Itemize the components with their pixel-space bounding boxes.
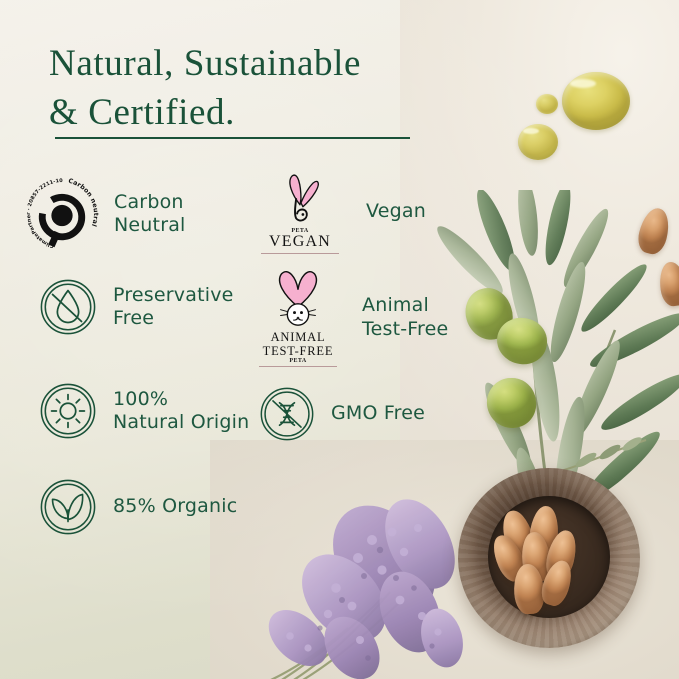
almond-icon bbox=[519, 531, 552, 584]
badge-natural-origin[interactable]: 100% Natural Origin bbox=[39, 382, 249, 440]
badge-carbon-neutral[interactable]: Carbon neutral ClimatePartner · 20857-22… bbox=[24, 176, 186, 252]
peta-animal-test-free-bunny-heart-icon: ANIMAL TEST-FREE PETA bbox=[256, 268, 340, 367]
almond-icon bbox=[657, 260, 679, 307]
green-olive-icon bbox=[485, 376, 539, 431]
badge-label: 85% Organic bbox=[113, 495, 237, 518]
badge-organic[interactable]: 85% Organic bbox=[39, 478, 237, 536]
almond-icon bbox=[487, 531, 530, 585]
olive-sprig-icon bbox=[560, 436, 650, 476]
dna-crossed-out-icon bbox=[259, 386, 315, 442]
olive-oil-droplet-small-icon bbox=[536, 94, 558, 114]
badge-label: Animal Test-Free bbox=[362, 294, 448, 340]
peta-small-text: PETA bbox=[256, 358, 340, 364]
carbon-neutral-seal-icon: Carbon neutral ClimatePartner · 20857-22… bbox=[24, 176, 100, 252]
mortar-rim-texture bbox=[458, 468, 640, 648]
almond-icon bbox=[527, 505, 560, 560]
bunny-ears-icon bbox=[271, 170, 329, 228]
green-olive-icon bbox=[459, 282, 519, 346]
water-drop-crossed-out-icon bbox=[39, 278, 97, 336]
almond-icon bbox=[512, 563, 545, 615]
sun-icon bbox=[39, 382, 97, 440]
peta-underline bbox=[259, 366, 337, 367]
peta-word-2: TEST-FREE bbox=[256, 344, 340, 358]
peta-vegan-bunny-icon: PETA VEGAN bbox=[258, 170, 342, 254]
almond-icon bbox=[635, 205, 673, 256]
badge-gmo-free[interactable]: GMO Free bbox=[259, 386, 425, 442]
olive-oil-droplet-large-icon bbox=[562, 72, 630, 130]
almond-icon bbox=[542, 527, 580, 582]
stone-mortar-bowl bbox=[458, 468, 640, 648]
badge-animal-test-free[interactable]: ANIMAL TEST-FREE PETA Animal Test-Free bbox=[256, 268, 448, 367]
badge-preservative-free[interactable]: Preservative Free bbox=[39, 278, 234, 336]
olive-oil-droplet-medium-icon bbox=[518, 124, 558, 160]
badge-label: Preservative Free bbox=[113, 284, 234, 330]
mortar-bowl-interior bbox=[488, 496, 610, 618]
badge-label: 100% Natural Origin bbox=[113, 388, 249, 434]
green-olive-icon bbox=[494, 315, 550, 368]
peta-animal-test-free-mark: ANIMAL TEST-FREE PETA bbox=[256, 268, 340, 367]
peta-word: VEGAN bbox=[258, 234, 342, 251]
peta-vegan-mark: PETA VEGAN bbox=[258, 170, 342, 254]
almond-icon bbox=[538, 557, 577, 609]
badge-label: Vegan bbox=[366, 200, 426, 223]
bunny-heart-icon bbox=[266, 268, 330, 330]
certification-badge-list: Carbon neutral ClimatePartner · 20857-22… bbox=[0, 0, 460, 679]
badge-vegan[interactable]: PETA VEGAN Vegan bbox=[258, 170, 426, 254]
almond-icon bbox=[498, 507, 539, 563]
product-claims-infographic: Natural, Sustainable & Certified. bbox=[0, 0, 679, 679]
badge-label: Carbon Neutral bbox=[114, 191, 186, 237]
peta-word: ANIMAL bbox=[256, 330, 340, 344]
peta-underline bbox=[261, 253, 339, 254]
badge-label: GMO Free bbox=[331, 402, 425, 425]
two-leaves-icon bbox=[39, 478, 97, 536]
